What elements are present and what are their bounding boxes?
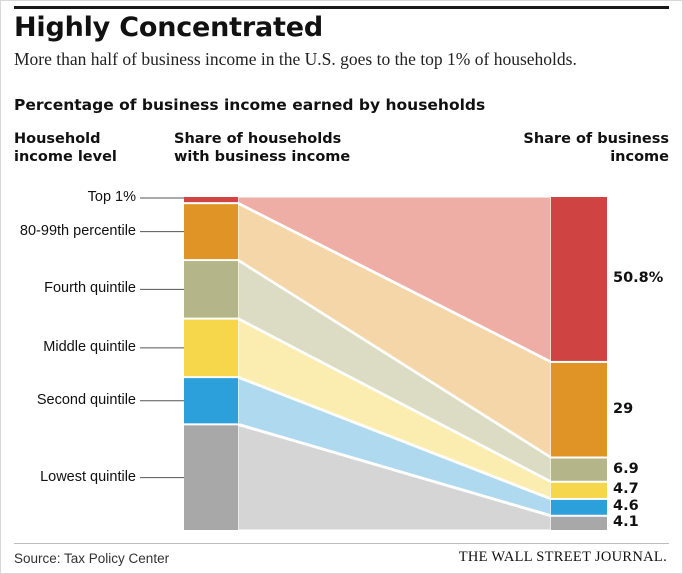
category-label-2: Fourth quintile — [8, 280, 136, 296]
value-label-1: 29 — [613, 401, 633, 417]
bottom-rule — [14, 543, 669, 544]
category-label-1: 80-99th percentile — [8, 223, 136, 239]
category-label-3: Middle quintile — [8, 339, 136, 355]
right-bar-segment-4 — [551, 500, 607, 515]
left-bar-segment-1 — [184, 204, 238, 259]
brand-mark: THE WALL STREET JOURNAL. — [459, 549, 667, 566]
category-label-4: Second quintile — [8, 392, 136, 408]
left-bar-segment-2 — [184, 261, 238, 318]
category-label-0: Top 1% — [8, 189, 136, 205]
value-label-3: 4.7 — [613, 481, 639, 497]
right-bar-segment-2 — [551, 458, 607, 480]
category-label-5: Lowest quintile — [8, 469, 136, 485]
value-label-4: 4.6 — [613, 498, 639, 514]
right-bar-segment-5 — [551, 517, 607, 530]
value-label-5: 4.1 — [613, 514, 639, 530]
source-note: Source: Tax Policy Center — [14, 551, 169, 566]
left-bar-segment-5 — [184, 425, 238, 530]
right-bar-segment-1 — [551, 363, 607, 457]
value-label-2: 6.9 — [613, 461, 639, 477]
right-bar-segment-0 — [551, 197, 607, 361]
right-bar-segment-3 — [551, 483, 607, 498]
left-bar-segment-3 — [184, 320, 238, 377]
value-label-0: 50.8% — [613, 270, 663, 286]
left-bar-segment-4 — [184, 378, 238, 423]
left-bar-segment-0 — [184, 197, 238, 202]
